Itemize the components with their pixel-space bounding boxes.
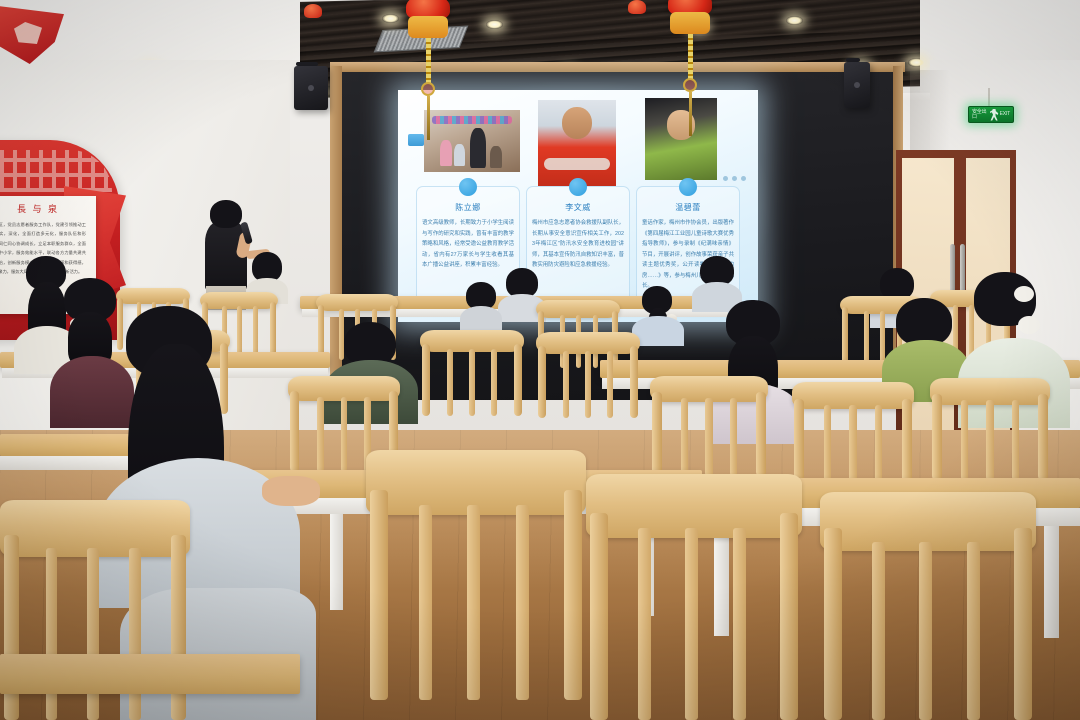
running-person-icon [990,109,1000,121]
red-lantern-small [628,0,646,14]
presenter-hair [210,200,242,228]
slide-person-bio-1: 语文高级教师，长期致力于小学生阅读与写作的研究和实践，曾有丰富的教学策略和风格，… [422,218,514,271]
wall-speaker-left [294,66,328,110]
ceiling-downlight [486,20,503,29]
table-leg [1044,526,1059,638]
poster-title: 長 与 泉 [0,202,96,215]
chair-mid-row[interactable] [792,382,914,486]
door-handle-left[interactable] [950,244,955,296]
table-foreground-edge [0,654,300,694]
table-leg [330,514,343,610]
chair-mid-row[interactable] [650,376,768,476]
chair-foreground-right-a[interactable] [586,474,802,720]
chair-foreground-center[interactable] [366,450,586,700]
ceiling-downlight [908,58,925,67]
red-lantern-decoration [406,0,450,140]
red-lantern-decoration [668,0,712,136]
chair-foreground-right-b[interactable] [820,492,1036,720]
chair-mid-row[interactable] [536,332,640,418]
slide-person-bio-2: 梅州市应急志愿者协会救援队副队长，长期从事安全意识宣传相关工作，2023年梅江区… [532,218,624,271]
slide-person-name-1: 陈立娜 [416,202,520,213]
slide-photo-2 [538,100,616,186]
door-handle-right[interactable] [960,244,965,296]
slide-pagination-dots [723,176,746,181]
ceiling-downlight [382,14,399,23]
slide-bullet-dot-3 [679,178,697,196]
exit-sign-english-text: EXIT [1000,112,1010,117]
slide-bullet-dot-2 [569,178,587,196]
slide-bullet-dot-1 [459,178,477,196]
foreground-arm [262,476,320,506]
chair-mid-row[interactable] [420,330,524,416]
chair-mid-row[interactable] [930,378,1050,480]
emergency-exit-sign: 安全出口 EXIT [968,106,1014,123]
red-lantern-small [304,4,322,18]
exit-sign-cable [988,88,990,108]
exit-sign-chinese-text: 安全出口 [972,110,990,120]
ceiling-downlight [786,16,803,25]
slide-person-name-2: 李文威 [526,202,630,213]
slide-person-name-3: 温碧蕾 [636,202,740,213]
wall-speaker-right [844,62,870,108]
conference-room-photo: 陈立娜 李文威 温碧蕾 语文高级教师，长期致力于小学生阅读与写作的研究和实践，曾… [0,0,1080,720]
